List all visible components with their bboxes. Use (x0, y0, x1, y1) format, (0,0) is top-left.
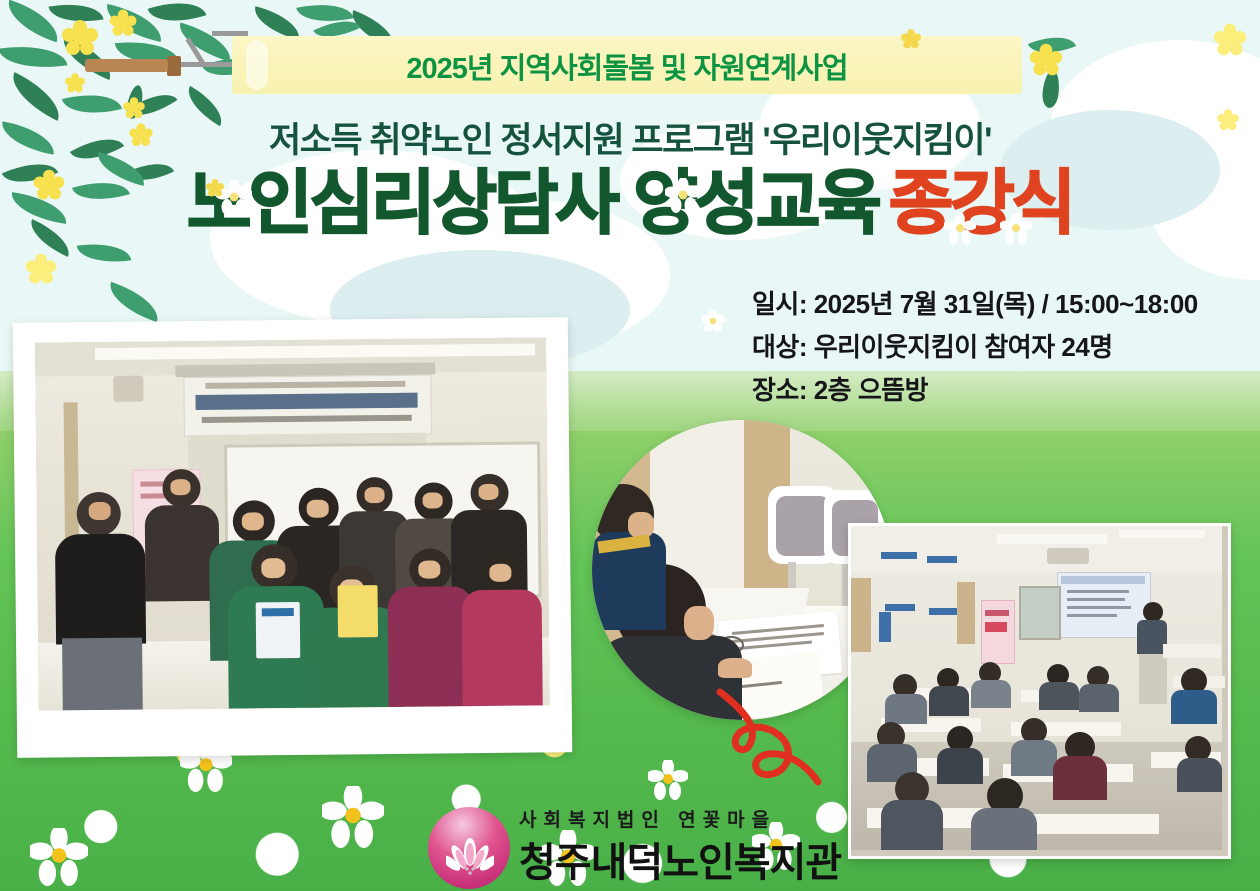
flower-icon (122, 96, 146, 120)
event-datetime: 일시: 2025년 7월 31일(목) / 15:00~18:00 (752, 283, 1252, 326)
daisy-icon (648, 760, 688, 800)
poster-subtitle: 저소득 취약노인 정서지원 프로그램 '우리이웃지킴이' (0, 112, 1260, 163)
writing-photo (592, 420, 892, 720)
flower-icon (108, 8, 138, 38)
flower-icon (64, 72, 86, 94)
roller-handle-icon (85, 59, 168, 72)
poster-title: 노인심리상담사 양성교육종강식 (0, 168, 1260, 238)
daisy-icon (30, 828, 88, 886)
lecture-photo-frame (848, 523, 1231, 859)
title-accent-text: 종강식 (889, 164, 1073, 242)
flower-icon (900, 28, 922, 50)
lecture-photo (851, 526, 1228, 856)
group-photo (35, 337, 550, 710)
daisy-icon (322, 786, 384, 848)
flower-icon (1216, 108, 1240, 132)
flower-icon (60, 18, 100, 58)
event-place: 장소: 2층 으뜸방 (752, 369, 1252, 412)
poster: 2025년 지역사회돌봄 및 자원연계사업 저소득 취약노인 정서지원 프로그램… (0, 0, 1260, 891)
title-main-text: 노인심리상담사 양성교육 (187, 164, 879, 242)
flower-icon (1028, 42, 1064, 78)
flower-icon (32, 168, 66, 202)
event-target: 대상: 우리이웃지킴이 참여자 24명 (752, 326, 1252, 369)
flower-icon (1212, 22, 1248, 58)
flower-icon (128, 122, 154, 148)
org-name-small: 사회복지법인 연꽃마을 (519, 805, 776, 832)
event-info: 일시: 2025년 7월 31일(목) / 15:00~18:00 대상: 우리… (752, 283, 1252, 412)
heart-doodle-icon (706, 686, 836, 796)
org-name-main: 청주내덕노인복지관 (519, 830, 841, 888)
lotus-flower-icon (446, 838, 494, 878)
flower-icon (205, 178, 225, 198)
flower-icon (700, 308, 726, 334)
flower-icon (24, 252, 58, 286)
roller-grip-icon (167, 56, 181, 76)
group-photo-frame (13, 317, 573, 758)
